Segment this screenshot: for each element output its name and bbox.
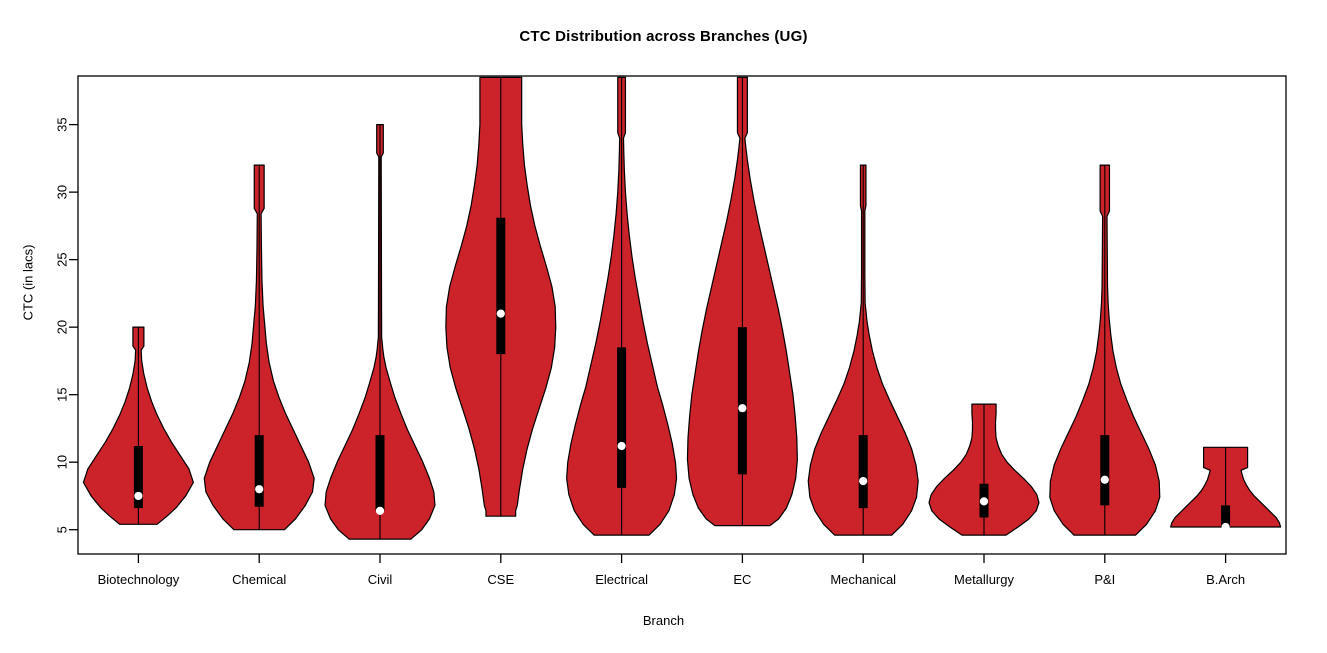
median-point xyxy=(1101,476,1109,484)
median-point xyxy=(255,485,263,493)
violin-biotechnology[interactable] xyxy=(83,327,193,524)
median-point xyxy=(980,497,988,505)
y-tick-label: 30 xyxy=(55,185,70,199)
violin-civil[interactable] xyxy=(325,125,435,540)
x-tick-label-ec: EC xyxy=(733,572,751,587)
median-point xyxy=(859,477,867,485)
violins-layer xyxy=(83,77,1280,539)
x-tick-label-mechanical: Mechanical xyxy=(830,572,896,587)
x-tick-label-p-i: P&I xyxy=(1094,572,1115,587)
x-tick-label-civil: Civil xyxy=(368,572,393,587)
x-tick-label-b-arch: B.Arch xyxy=(1206,572,1245,587)
violin-electrical[interactable] xyxy=(567,77,677,535)
violin-ec[interactable] xyxy=(687,77,797,525)
violin-cse[interactable] xyxy=(446,77,556,516)
median-point xyxy=(497,310,505,318)
y-tick-label: 25 xyxy=(55,252,70,266)
plot-area: 5101520253035BiotechnologyChemicalCivilC… xyxy=(0,0,1327,653)
x-tick-label-cse: CSE xyxy=(487,572,514,587)
median-point xyxy=(738,404,746,412)
y-tick-label: 15 xyxy=(55,387,70,401)
x-tick-label-metallurgy: Metallurgy xyxy=(954,572,1014,587)
x-tick-label-biotechnology: Biotechnology xyxy=(98,572,180,587)
violin-p-i[interactable] xyxy=(1050,165,1160,535)
median-point xyxy=(134,492,142,500)
median-point xyxy=(618,442,626,450)
y-tick-label: 5 xyxy=(55,526,70,533)
y-tick-label: 20 xyxy=(55,320,70,334)
x-tick-label-chemical: Chemical xyxy=(232,572,286,587)
x-tick-label-electrical: Electrical xyxy=(595,572,648,587)
y-tick-label: 10 xyxy=(55,455,70,469)
violin-metallurgy[interactable] xyxy=(929,404,1039,535)
violin-chart-page: CTC Distribution across Branches (UG) CT… xyxy=(0,0,1327,653)
violin-b-arch[interactable] xyxy=(1171,447,1281,531)
violin-mechanical[interactable] xyxy=(808,165,918,535)
violin-chemical[interactable] xyxy=(204,165,314,530)
median-point xyxy=(376,507,384,515)
median-point xyxy=(1222,523,1230,531)
y-tick-label: 35 xyxy=(55,117,70,131)
